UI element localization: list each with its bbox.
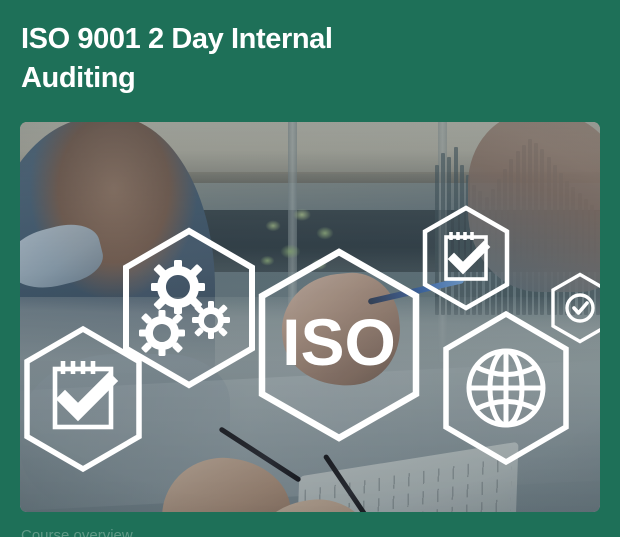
checklist-hexagon-icon	[20, 325, 147, 473]
hero-photo: ISO	[20, 122, 600, 512]
course-card: ISO 9001 2 Day Internal Auditing	[0, 0, 620, 537]
check-badge-hexagon-icon	[549, 272, 600, 344]
page-title: ISO 9001 2 Day Internal Auditing	[21, 20, 421, 98]
clipped-below-text: Course overview	[21, 526, 451, 537]
iso-hexagon-label: ISO	[282, 305, 396, 379]
hero-image: ISO	[20, 122, 600, 512]
checklist-hexagon-icon	[420, 205, 512, 311]
iso-hexagon-icon: ISO	[253, 247, 425, 443]
